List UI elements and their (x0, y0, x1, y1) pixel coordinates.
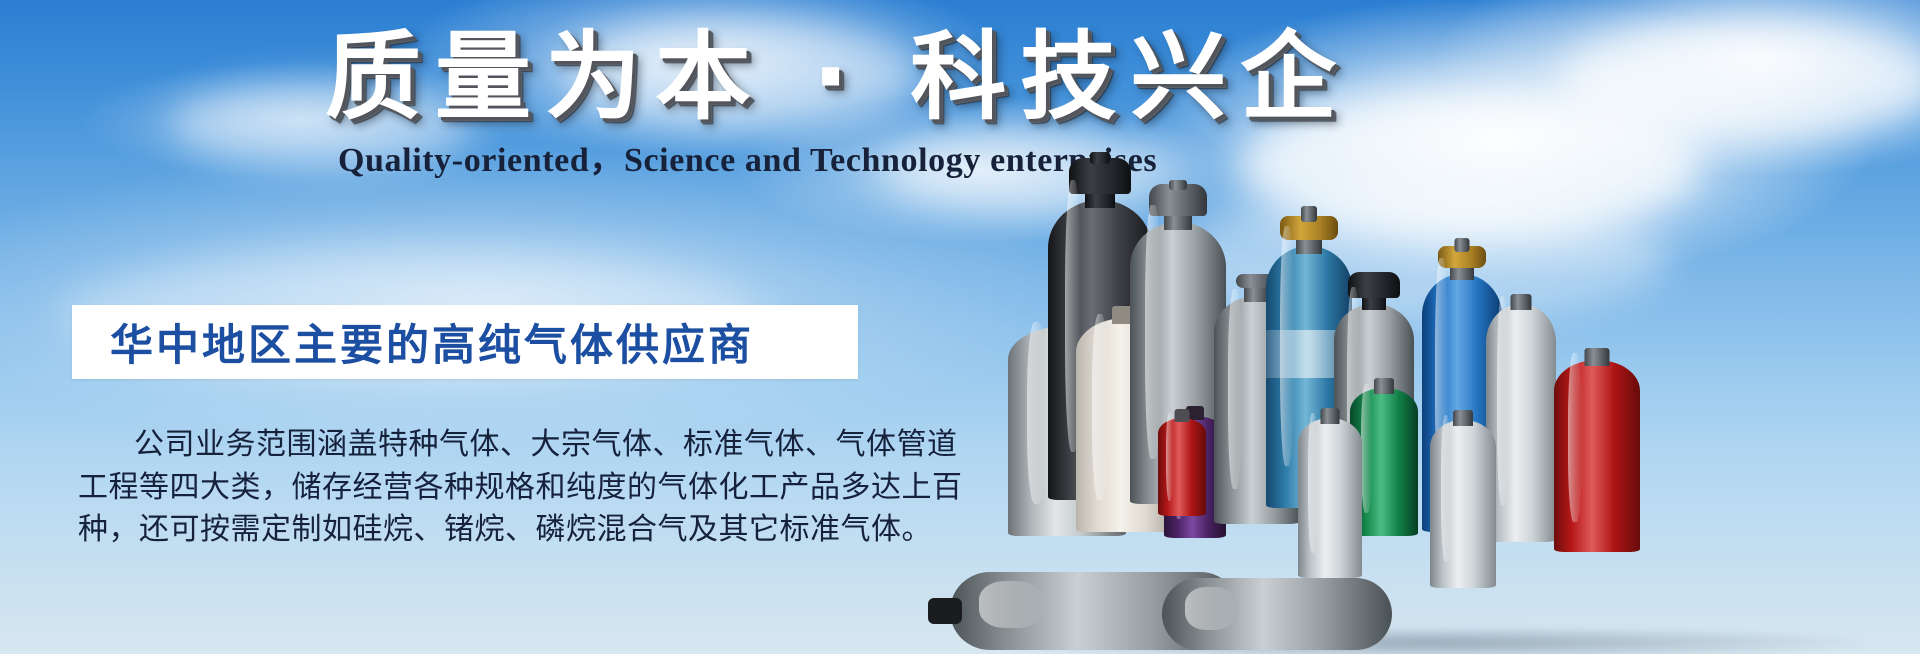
promo-banner: 质量为本 · 科技兴企 Quality-oriented，Science and… (0, 0, 1920, 654)
tagline-highlight-box: 华中地区主要的高纯气体供应商 (72, 305, 858, 379)
banner-description-paragraph: 公司业务范围涵盖特种气体、大宗气体、标准气体、气体管道 工程等四大类，储存经营各… (78, 424, 868, 552)
silver-aluminium-cylinder (1486, 280, 1556, 542)
silver-slim-cylinder (1298, 402, 1362, 578)
red-cylinder (1554, 340, 1640, 552)
tank-valve (928, 598, 962, 624)
red-small-cylinder (1158, 406, 1206, 516)
paragraph-line: 工程等四大类，储存经营各种规格和纯度的气体化工产品多达上百 (78, 467, 868, 510)
paragraph-line: 公司业务范围涵盖特种气体、大宗气体、标准气体、气体管道 (78, 424, 868, 467)
banner-text-column: 质量为本 · 科技兴企 Quality-oriented，Science and… (0, 0, 1000, 654)
gas-cylinder-group-image (930, 0, 1920, 654)
horizontal-tank-right (1162, 578, 1392, 650)
paragraph-line: 种，还可按需定制如硅烷、锗烷、磷烷混合气及其它标准气体。 (78, 509, 868, 552)
tagline-text: 华中地区主要的高纯气体供应商 (72, 311, 754, 373)
silver-medium-cylinder (1430, 404, 1496, 588)
